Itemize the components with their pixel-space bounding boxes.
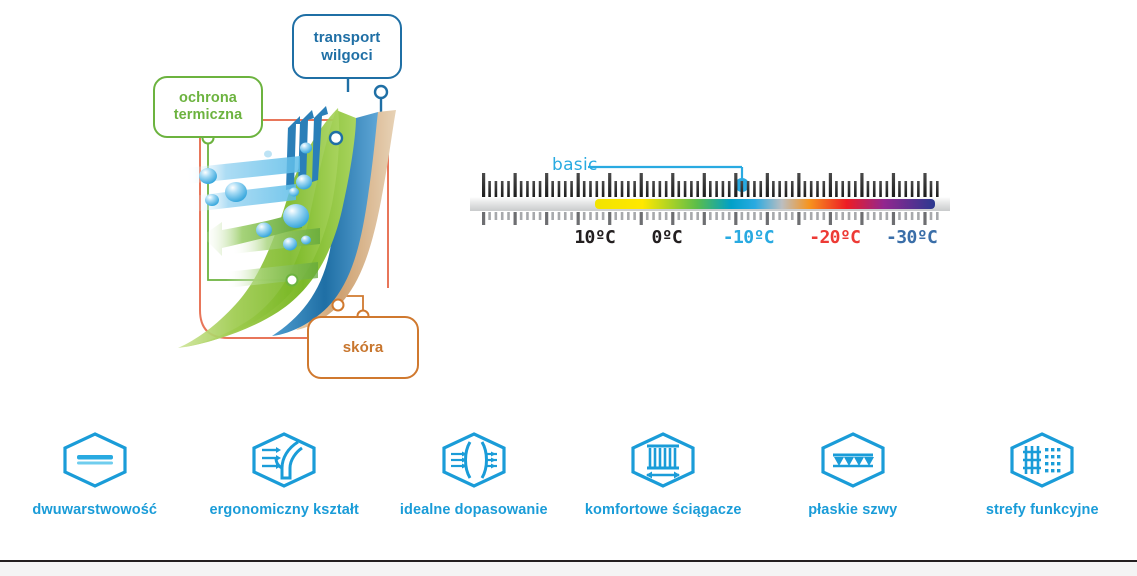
tick-minor-lower bbox=[551, 212, 554, 220]
tick-minor-lower bbox=[690, 212, 693, 220]
tick-minor-lower bbox=[917, 212, 920, 220]
tick-minor-lower bbox=[930, 212, 933, 220]
tick-minor bbox=[904, 181, 907, 197]
temp-label-0: 0ºC bbox=[651, 227, 682, 248]
tick-minor-lower bbox=[684, 212, 687, 220]
comfort-cuffs-icon bbox=[617, 428, 709, 490]
tick-minor bbox=[722, 181, 725, 197]
temperature-scale: basic bbox=[470, 145, 950, 270]
tick-minor-lower bbox=[772, 212, 775, 220]
connector-node-thermal-end bbox=[287, 275, 298, 286]
tick-minor-lower bbox=[627, 212, 630, 220]
tick-minor-lower bbox=[778, 212, 781, 220]
tick-minor bbox=[539, 181, 542, 197]
tick-minor bbox=[747, 181, 750, 197]
tick-minor bbox=[602, 181, 605, 197]
tick-major bbox=[640, 173, 643, 197]
tick-minor-lower bbox=[488, 212, 491, 220]
tick-minor-lower bbox=[873, 212, 876, 220]
tick-minor bbox=[873, 181, 876, 197]
tick-minor bbox=[564, 181, 567, 197]
temperature-gradient-bar bbox=[595, 199, 935, 209]
tick-major bbox=[482, 173, 485, 197]
tick-minor bbox=[488, 181, 491, 197]
droplet bbox=[205, 194, 219, 206]
ergonomic-shape-icon bbox=[238, 428, 330, 490]
tick-minor-lower bbox=[501, 212, 504, 220]
tick-major bbox=[514, 173, 517, 197]
tick-minor-lower bbox=[507, 212, 510, 220]
droplet bbox=[283, 238, 297, 251]
tick-minor bbox=[665, 181, 668, 197]
tick-minor bbox=[551, 181, 554, 197]
tick-major bbox=[577, 173, 580, 197]
tick-minor bbox=[614, 181, 617, 197]
tick-minor bbox=[785, 181, 788, 197]
tick-minor-lower bbox=[715, 212, 718, 220]
tick-major-lower bbox=[671, 212, 674, 225]
tick-minor-lower bbox=[659, 212, 662, 220]
tick-minor-lower bbox=[526, 212, 529, 220]
footer-strip bbox=[0, 562, 1137, 576]
tick-minor bbox=[886, 181, 889, 197]
tick-minor bbox=[621, 181, 624, 197]
tick-major bbox=[892, 173, 895, 197]
tick-minor-lower bbox=[904, 212, 907, 220]
tick-minor-lower bbox=[898, 212, 901, 220]
temp-label-10: 10ºC bbox=[574, 227, 615, 248]
tick-minor-lower bbox=[532, 212, 535, 220]
tick-minor-lower bbox=[854, 212, 857, 220]
tick-minor-lower bbox=[570, 212, 573, 220]
tick-minor bbox=[558, 181, 561, 197]
fabric-diagram: ochrona termiczna transport wilgoci skór… bbox=[0, 0, 1137, 420]
callout-thermal-line2: termiczna bbox=[174, 107, 243, 124]
page-root: ochrona termiczna transport wilgoci skór… bbox=[0, 0, 1137, 576]
tick-minor bbox=[854, 181, 857, 197]
tick-minor-lower bbox=[841, 212, 844, 220]
tick-major-lower bbox=[703, 212, 706, 225]
tick-minor-lower bbox=[722, 212, 725, 220]
upper-tick-group bbox=[482, 173, 939, 197]
tick-minor-lower bbox=[665, 212, 668, 220]
tick-minor-lower bbox=[539, 212, 542, 220]
tick-minor-lower bbox=[614, 212, 617, 220]
tick-major bbox=[545, 173, 548, 197]
tick-minor bbox=[589, 181, 592, 197]
tick-minor-lower bbox=[564, 212, 567, 220]
feature-two-layer[interactable]: dwuwarstwowość bbox=[0, 428, 190, 518]
tick-minor-lower bbox=[596, 212, 599, 220]
tick-minor bbox=[507, 181, 510, 197]
tick-major-lower bbox=[545, 212, 548, 225]
connector-node-moisture-end bbox=[330, 132, 342, 144]
tick-minor-lower bbox=[804, 212, 807, 220]
callout-thermal-line1: ochrona bbox=[174, 90, 243, 107]
tick-minor bbox=[532, 181, 535, 197]
tick-minor-lower bbox=[810, 212, 813, 220]
tick-minor-lower bbox=[633, 212, 636, 220]
droplet bbox=[264, 151, 272, 158]
tick-major bbox=[860, 173, 863, 197]
temp-label-minus20: -20ºC bbox=[809, 227, 860, 248]
tick-minor bbox=[677, 181, 680, 197]
tick-major-lower bbox=[797, 212, 800, 225]
tick-minor-lower bbox=[741, 212, 744, 220]
tick-minor bbox=[627, 181, 630, 197]
connector-node-moisture-top bbox=[375, 86, 387, 98]
tick-minor bbox=[684, 181, 687, 197]
feature-comfort-cuffs[interactable]: komfortowe ściągacze bbox=[569, 428, 759, 518]
tick-minor-lower bbox=[747, 212, 750, 220]
tick-major-lower bbox=[734, 212, 737, 225]
tick-minor bbox=[715, 181, 718, 197]
tick-major-lower bbox=[640, 212, 643, 225]
callout-skin[interactable]: skóra bbox=[307, 316, 419, 379]
callout-skin-label: skóra bbox=[343, 339, 384, 357]
tick-major-lower bbox=[892, 212, 895, 225]
tick-minor-lower bbox=[759, 212, 762, 220]
tick-minor-lower bbox=[520, 212, 523, 220]
tick-minor-lower bbox=[621, 212, 624, 220]
tick-minor bbox=[652, 181, 655, 197]
tick-major bbox=[608, 173, 611, 197]
tick-major bbox=[797, 173, 800, 197]
tick-minor bbox=[879, 181, 882, 197]
tick-minor-lower bbox=[558, 212, 561, 220]
tick-minor bbox=[583, 181, 586, 197]
tick-minor-lower bbox=[936, 212, 939, 220]
flat-seams-icon bbox=[807, 428, 899, 490]
feature-label-ergonomic-shape: ergonomiczny kształt bbox=[210, 502, 359, 518]
tick-minor bbox=[709, 181, 712, 197]
tick-minor bbox=[596, 181, 599, 197]
tick-minor-lower bbox=[709, 212, 712, 220]
droplet bbox=[199, 168, 217, 184]
tick-minor-lower bbox=[602, 212, 605, 220]
tick-minor-lower bbox=[495, 212, 498, 220]
tick-minor-lower bbox=[677, 212, 680, 220]
tick-major-lower bbox=[577, 212, 580, 225]
tick-minor-lower bbox=[867, 212, 870, 220]
tick-minor-lower bbox=[785, 212, 788, 220]
tick-minor bbox=[646, 181, 649, 197]
tick-minor-lower bbox=[583, 212, 586, 220]
tick-major-lower bbox=[860, 212, 863, 225]
feature-row: dwuwarstwowość ergonomiczny kształt bbox=[0, 428, 1137, 538]
tick-minor bbox=[911, 181, 914, 197]
tick-major-lower bbox=[608, 212, 611, 225]
droplet bbox=[301, 236, 311, 245]
temperature-labels: 10ºC 0ºC -10ºC -20ºC -30ºC bbox=[470, 227, 950, 255]
tick-minor bbox=[728, 181, 731, 197]
callout-moisture-transport[interactable]: transport wilgoci bbox=[292, 14, 402, 79]
tick-minor bbox=[753, 181, 756, 197]
tick-minor bbox=[659, 181, 662, 197]
tick-minor bbox=[501, 181, 504, 197]
perfect-fit-icon bbox=[428, 428, 520, 490]
droplet bbox=[289, 188, 299, 197]
tick-major-lower bbox=[514, 212, 517, 225]
tick-minor-lower bbox=[589, 212, 592, 220]
droplet bbox=[283, 204, 309, 228]
callout-thermal-protection[interactable]: ochrona termiczna bbox=[153, 76, 263, 138]
tick-minor bbox=[741, 181, 744, 197]
tick-minor-lower bbox=[728, 212, 731, 220]
tick-major bbox=[671, 173, 674, 197]
lower-tick-group bbox=[482, 212, 939, 225]
two-layer-icon bbox=[49, 428, 141, 490]
tick-minor bbox=[936, 181, 939, 197]
droplet bbox=[225, 182, 247, 202]
tick-minor-lower bbox=[652, 212, 655, 220]
tick-minor bbox=[823, 181, 826, 197]
tick-major-lower bbox=[482, 212, 485, 225]
tick-major bbox=[766, 173, 769, 197]
feature-label-functional-zones: strefy funkcyjne bbox=[986, 502, 1099, 518]
temp-label-minus10: -10ºC bbox=[723, 227, 774, 248]
tick-minor-lower bbox=[848, 212, 851, 220]
tick-major bbox=[703, 173, 706, 197]
tick-minor bbox=[495, 181, 498, 197]
tick-major bbox=[734, 173, 737, 197]
tick-minor bbox=[696, 181, 699, 197]
tick-minor bbox=[930, 181, 933, 197]
tick-minor bbox=[810, 181, 813, 197]
feature-label-perfect-fit: idealne dopasowanie bbox=[400, 502, 548, 518]
tick-minor bbox=[570, 181, 573, 197]
tick-major-lower bbox=[829, 212, 832, 225]
tick-minor bbox=[778, 181, 781, 197]
tick-minor bbox=[848, 181, 851, 197]
feature-perfect-fit[interactable]: idealne dopasowanie bbox=[379, 428, 569, 518]
tick-major bbox=[923, 173, 926, 197]
tick-minor bbox=[690, 181, 693, 197]
feature-functional-zones[interactable]: strefy funkcyjne bbox=[948, 428, 1137, 518]
tick-major-lower bbox=[923, 212, 926, 225]
connector-node-skin-end bbox=[333, 300, 344, 311]
temp-label-minus30: -30ºC bbox=[886, 227, 937, 248]
tick-minor bbox=[816, 181, 819, 197]
tick-minor bbox=[759, 181, 762, 197]
callout-moisture-line2: wilgoci bbox=[314, 47, 381, 65]
tick-minor-lower bbox=[835, 212, 838, 220]
tick-minor-lower bbox=[911, 212, 914, 220]
tick-minor bbox=[791, 181, 794, 197]
tick-minor bbox=[841, 181, 844, 197]
tick-minor-lower bbox=[879, 212, 882, 220]
tick-minor bbox=[772, 181, 775, 197]
tick-minor bbox=[835, 181, 838, 197]
tick-major-lower bbox=[766, 212, 769, 225]
feature-label-comfort-cuffs: komfortowe ściągacze bbox=[585, 502, 742, 518]
feature-ergonomic-shape[interactable]: ergonomiczny kształt bbox=[190, 428, 380, 518]
tick-minor-lower bbox=[886, 212, 889, 220]
tick-minor bbox=[526, 181, 529, 197]
tick-minor bbox=[898, 181, 901, 197]
tick-minor bbox=[520, 181, 523, 197]
feature-label-flat-seams: płaskie szwy bbox=[808, 502, 897, 518]
droplet bbox=[300, 143, 312, 154]
callout-moisture-line1: transport bbox=[314, 29, 381, 47]
tick-minor-lower bbox=[753, 212, 756, 220]
functional-zones-icon bbox=[996, 428, 1088, 490]
tick-minor bbox=[867, 181, 870, 197]
droplet bbox=[256, 223, 272, 238]
tick-minor-lower bbox=[823, 212, 826, 220]
feature-flat-seams[interactable]: płaskie szwy bbox=[758, 428, 948, 518]
tick-minor bbox=[633, 181, 636, 197]
tick-minor-lower bbox=[791, 212, 794, 220]
tick-minor-lower bbox=[696, 212, 699, 220]
tick-minor-lower bbox=[646, 212, 649, 220]
feature-label-two-layer: dwuwarstwowość bbox=[32, 502, 157, 518]
droplet bbox=[296, 175, 312, 190]
tick-minor-lower bbox=[816, 212, 819, 220]
tick-minor bbox=[917, 181, 920, 197]
tick-minor bbox=[804, 181, 807, 197]
tick-major bbox=[829, 173, 832, 197]
